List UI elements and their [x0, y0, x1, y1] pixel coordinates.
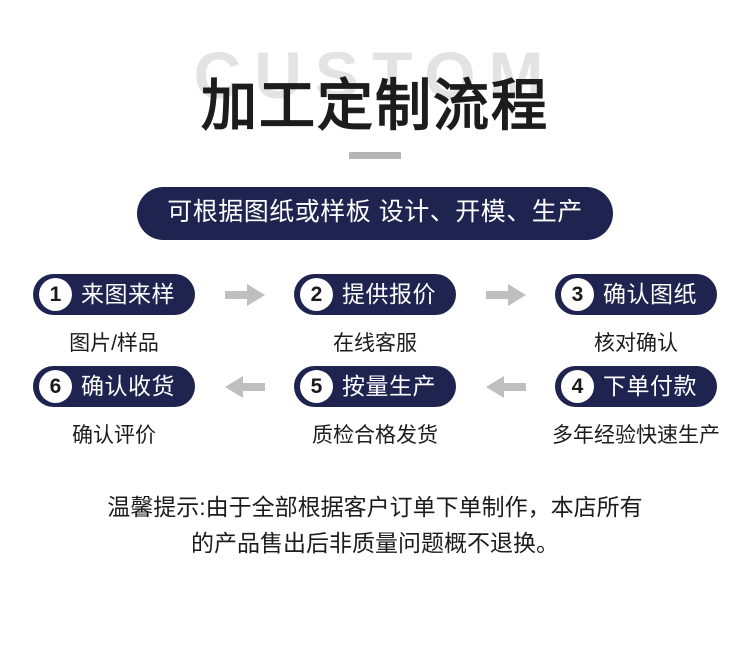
- step-number-6: 6: [39, 370, 72, 403]
- arrow-right-icon: [225, 284, 265, 306]
- step-item-4[interactable]: 4 下单付款 多年经验快速生产: [534, 366, 739, 446]
- page-title: 加工定制流程: [0, 78, 750, 134]
- step-item-3[interactable]: 3 确认图纸 核对确认: [534, 274, 739, 354]
- header: CUSTOM 加工定制流程: [0, 0, 750, 175]
- step-number-5: 5: [300, 370, 333, 403]
- subtitle-pill: 可根据图纸或样板 设计、开模、生产: [137, 187, 612, 240]
- arrow-left-icon: [225, 376, 265, 398]
- step-caption-6: 确认评价: [72, 425, 156, 446]
- step-row-top: 1 来图来样 图片/样品 2 提供报价 在线客服 3 确认图: [0, 274, 750, 354]
- step-pill-1[interactable]: 1 来图来样: [33, 274, 195, 315]
- step-item-1[interactable]: 1 来图来样 图片/样品: [12, 274, 217, 354]
- step-label-6: 确认收货: [81, 375, 175, 398]
- step-label-3: 确认图纸: [603, 283, 697, 306]
- subtitle-container: 可根据图纸或样板 设计、开模、生产: [0, 187, 750, 240]
- step-row-bottom: 6 确认收货 确认评价 5 按量生产 质检合格发货 4 下单: [0, 366, 750, 446]
- step-caption-3: 核对确认: [594, 333, 678, 354]
- step-item-5[interactable]: 5 按量生产 质检合格发货: [273, 366, 478, 446]
- title-divider: [349, 152, 401, 159]
- step-item-6[interactable]: 6 确认收货 确认评价: [12, 366, 217, 446]
- custom-process-infographic: { "header": { "watermark": "CUSTOM", "ti…: [0, 0, 750, 662]
- step-pill-2[interactable]: 2 提供报价: [294, 274, 456, 315]
- step-label-1: 来图来样: [81, 283, 175, 306]
- arrow-left-icon-1: [217, 366, 273, 407]
- arrow-right-icon: [486, 284, 526, 306]
- footer-note-line-2: 的产品售出后非质量问题概不退换。: [60, 526, 690, 562]
- steps-section: 1 来图来样 图片/样品 2 提供报价 在线客服 3 确认图: [0, 274, 750, 446]
- step-item-2[interactable]: 2 提供报价 在线客服: [273, 274, 478, 354]
- step-caption-5: 质检合格发货: [312, 425, 438, 446]
- footer-note-line-1: 温馨提示:由于全部根据客户订单下单制作，本店所有: [60, 490, 690, 526]
- arrow-right-icon-1: [217, 274, 273, 315]
- step-label-5: 按量生产: [342, 375, 436, 398]
- step-pill-4[interactable]: 4 下单付款: [555, 366, 717, 407]
- step-pill-3[interactable]: 3 确认图纸: [555, 274, 717, 315]
- step-number-3: 3: [561, 278, 594, 311]
- step-pill-5[interactable]: 5 按量生产: [294, 366, 456, 407]
- arrow-right-icon-2: [478, 274, 534, 315]
- step-caption-4: 多年经验快速生产: [552, 425, 720, 446]
- arrow-left-icon: [486, 376, 526, 398]
- step-caption-1: 图片/样品: [69, 333, 159, 354]
- step-number-2: 2: [300, 278, 333, 311]
- step-label-4: 下单付款: [603, 375, 697, 398]
- step-number-4: 4: [561, 370, 594, 403]
- step-pill-6[interactable]: 6 确认收货: [33, 366, 195, 407]
- footer-note: 温馨提示:由于全部根据客户订单下单制作，本店所有 的产品售出后非质量问题概不退换…: [0, 490, 750, 561]
- step-caption-2: 在线客服: [333, 333, 417, 354]
- step-number-1: 1: [39, 278, 72, 311]
- step-label-2: 提供报价: [342, 283, 436, 306]
- arrow-left-icon-2: [478, 366, 534, 407]
